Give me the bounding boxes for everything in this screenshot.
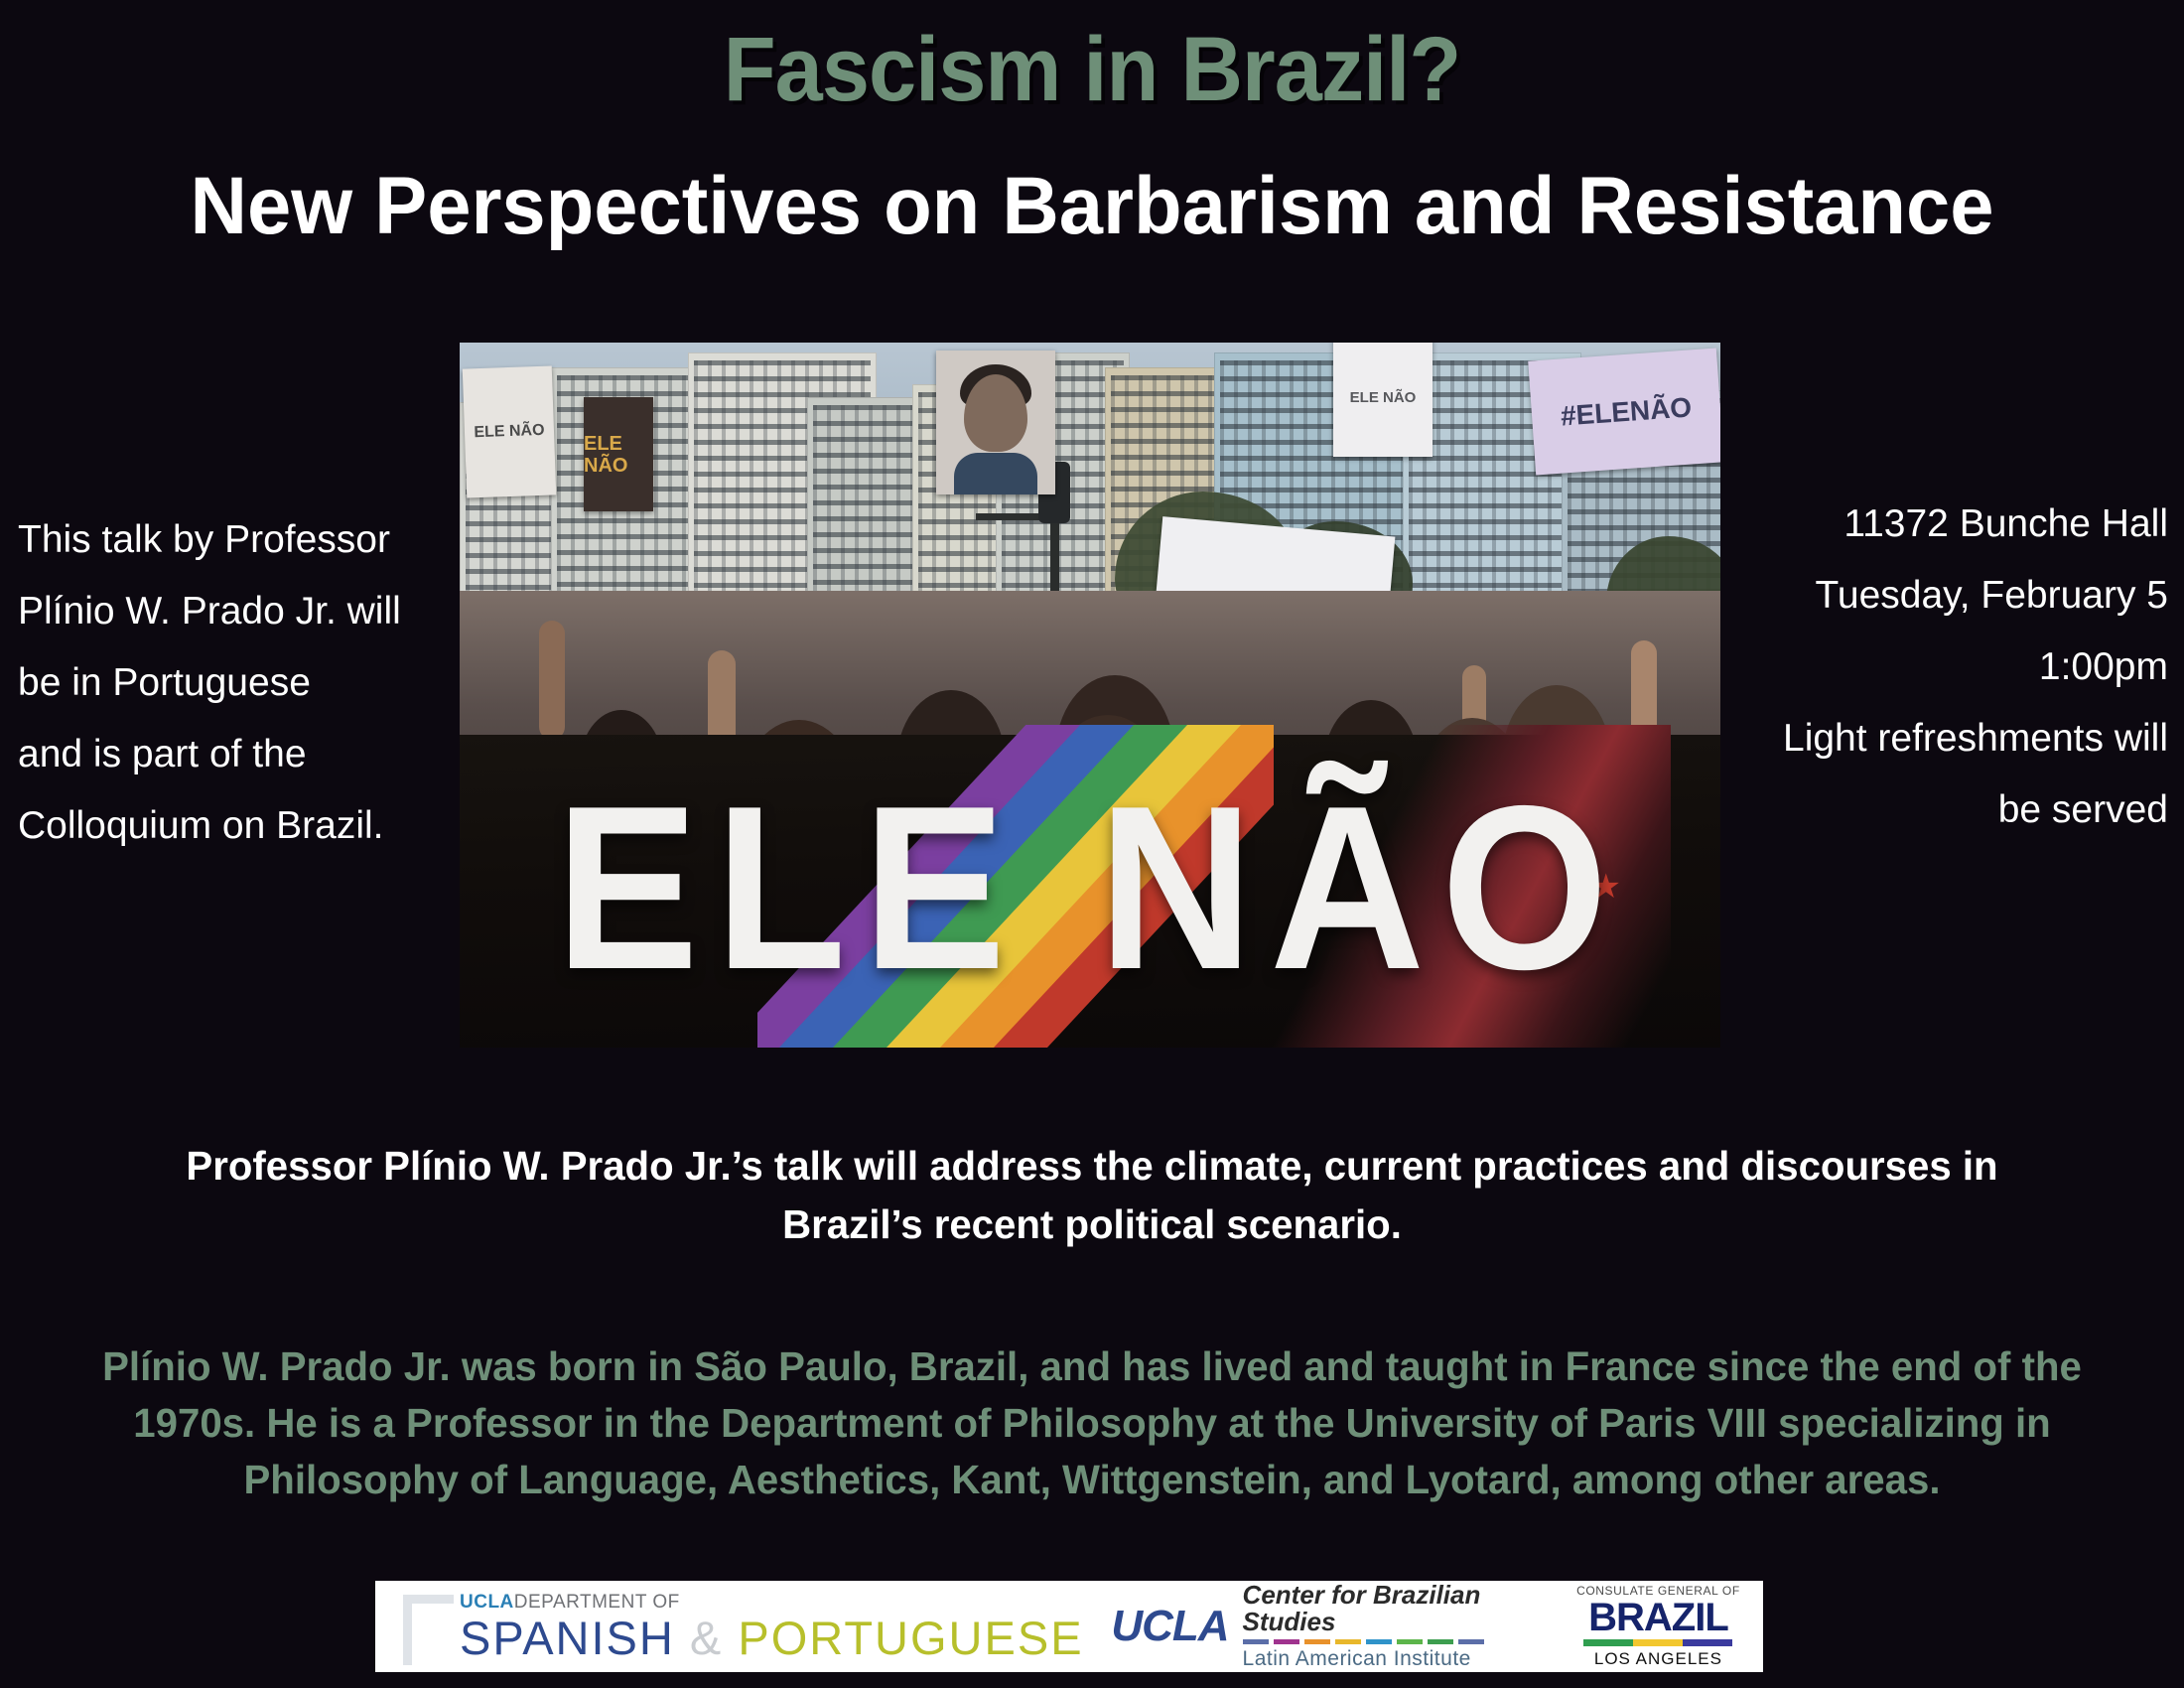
logo-portuguese-word: PORTUGUESE: [738, 1612, 1083, 1664]
logo-ucla-spanish-portuguese: UCLADEPARTMENT OF SPANISH & PORTUGUESE: [375, 1581, 1095, 1672]
page-title: Fascism in Brazil?: [66, 22, 2118, 118]
banner-slogan: ELE NÃO: [501, 771, 1680, 1004]
logo-cbs-title: Center for Brazilian Studies: [1243, 1582, 1554, 1636]
sign-paper-small: ELE NÃO: [1333, 343, 1433, 457]
sign-paper-left: ELE NÃO: [463, 365, 556, 497]
logo-cbs-color-bars: [1243, 1639, 1554, 1644]
page-subtitle: New Perspectives on Barbarism and Resist…: [33, 164, 2151, 249]
logo-cbs-subtitle: Latin American Institute: [1243, 1647, 1554, 1671]
logo-consulate-general-brazil: CONSULATE GENERAL OF BRAZIL LOS ANGELES: [1554, 1581, 1763, 1672]
sponsor-logo-strip: UCLADEPARTMENT OF SPANISH & PORTUGUESE U…: [375, 1581, 1763, 1672]
talk-language-info: This talk by Professor Plínio W. Prado J…: [18, 504, 435, 862]
logo-consulate-city: LOS ANGELES: [1594, 1649, 1722, 1669]
logo-department-of-label: DEPARTMENT OF: [514, 1592, 680, 1613]
logo-ampersand: &: [690, 1612, 723, 1664]
talk-description: Professor Plínio W. Prado Jr.’s talk wil…: [119, 1137, 2065, 1254]
sign-dark-yellow: ELE NÃO: [584, 397, 653, 511]
event-details-info: 11372 Bunche Hall Tuesday, February 5 1:…: [1702, 489, 2168, 846]
logo-spanish-word: SPANISH: [460, 1612, 675, 1664]
logo-brazil-wordmark: BRAZIL: [1588, 1598, 1728, 1637]
speaker-bio: Plínio W. Prado Jr. was born in São Paul…: [99, 1338, 2084, 1508]
logo-ucla-center-brazilian-studies: UCLA Center for Brazilian Studies Latin …: [1095, 1581, 1554, 1672]
elenao-banner: ★ ELE NÃO: [460, 735, 1720, 1048]
logo-brazil-flag-bars: [1583, 1639, 1732, 1646]
logo-ucla-wordmark: UCLA: [460, 1592, 514, 1613]
bracket-decoration: [403, 1595, 454, 1665]
sign-elenao-hashtag: #ELENÃO: [1528, 349, 1720, 476]
candidate-portrait-poster: [936, 351, 1055, 494]
protest-photo: ELE NÃO ELE NÃO ELE NÃO #ELENÃO ELE NÃO: [460, 343, 1720, 1048]
poster-root: Fascism in Brazil? New Perspectives on B…: [0, 0, 2184, 1688]
logo-ucla-wordmark-cbs: UCLA: [1111, 1602, 1228, 1651]
